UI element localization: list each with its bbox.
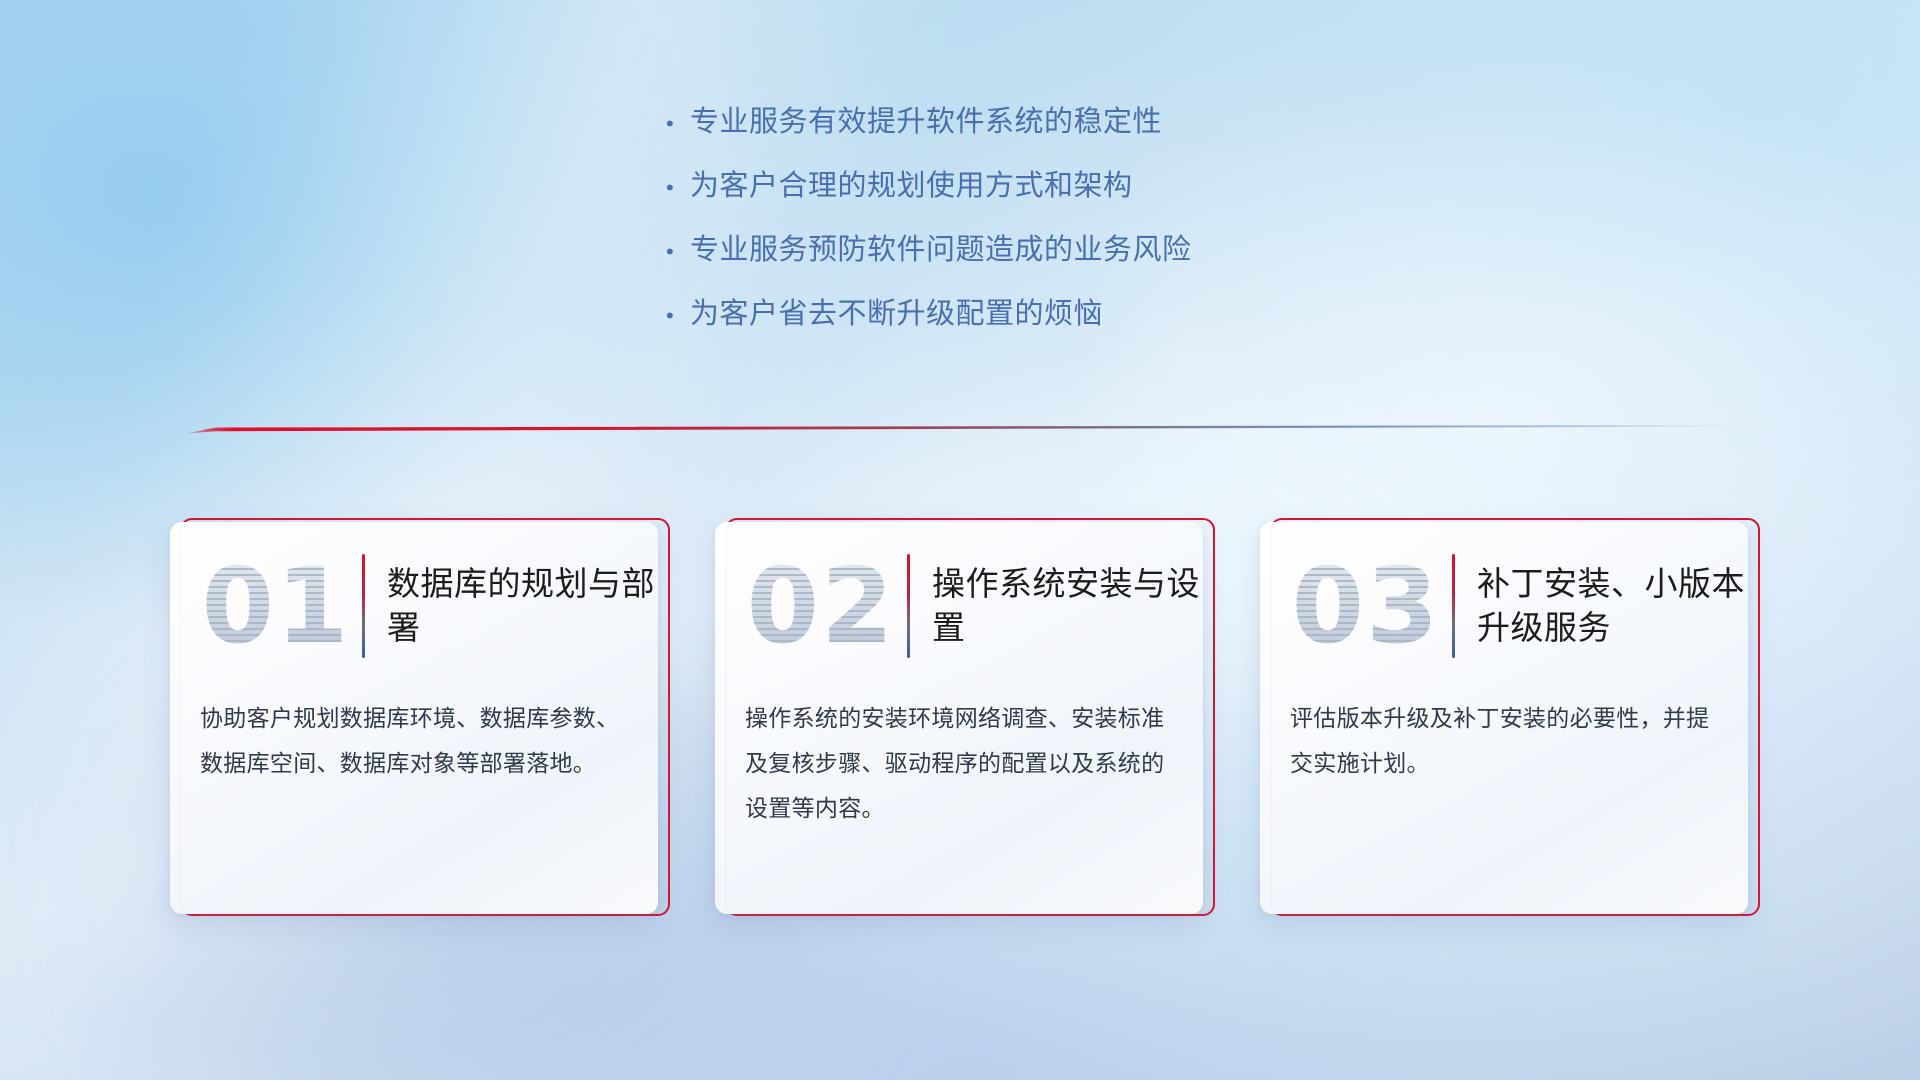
service-card-01[interactable]: 01 数据库的规划与部署 协助客户规划数据库环境、数据库参数、数据库空间、数据库… bbox=[170, 512, 660, 912]
card-header: 01 数据库的规划与部署 bbox=[170, 522, 658, 690]
list-item: • 专业服务有效提升软件系统的稳定性 bbox=[660, 98, 1480, 162]
card-description: 评估版本升级及补丁安装的必要性，并提交实施计划。 bbox=[1260, 690, 1748, 786]
bullet-text: 专业服务预防软件问题造成的业务风险 bbox=[690, 226, 1192, 268]
card-divider-rule bbox=[362, 554, 365, 658]
card-description: 操作系统的安装环境网络调查、安装标准及复核步骤、驱动程序的配置以及系统的设置等内… bbox=[715, 690, 1203, 831]
benefits-bullet-list: • 专业服务有效提升软件系统的稳定性 • 为客户合理的规划使用方式和架构 • 专… bbox=[660, 98, 1480, 354]
slide-canvas: • 专业服务有效提升软件系统的稳定性 • 为客户合理的规划使用方式和架构 • 专… bbox=[0, 0, 1920, 1080]
list-item: • 为客户合理的规划使用方式和架构 bbox=[660, 162, 1480, 226]
bullet-dot-icon: • bbox=[660, 177, 690, 199]
card-number-watermark: 02 bbox=[741, 546, 901, 666]
bullet-dot-icon: • bbox=[660, 113, 690, 135]
card-surface: 03 补丁安装、小版本升级服务 评估版本升级及补丁安装的必要性，并提交实施计划。 bbox=[1260, 522, 1748, 914]
bullet-text: 专业服务有效提升软件系统的稳定性 bbox=[690, 98, 1162, 140]
bullet-dot-icon: • bbox=[660, 305, 690, 327]
card-surface: 02 操作系统安装与设置 操作系统的安装环境网络调查、安装标准及复核步骤、驱动程… bbox=[715, 522, 1203, 914]
bullet-text: 为客户合理的规划使用方式和架构 bbox=[690, 162, 1133, 204]
card-description: 协助客户规划数据库环境、数据库参数、数据库空间、数据库对象等部署落地。 bbox=[170, 690, 658, 786]
card-header: 02 操作系统安装与设置 bbox=[715, 522, 1203, 690]
card-title: 数据库的规划与部署 bbox=[387, 562, 658, 650]
card-title: 补丁安装、小版本升级服务 bbox=[1477, 562, 1748, 650]
section-divider bbox=[186, 420, 1726, 438]
card-surface: 01 数据库的规划与部署 协助客户规划数据库环境、数据库参数、数据库空间、数据库… bbox=[170, 522, 658, 914]
service-card-03[interactable]: 03 补丁安装、小版本升级服务 评估版本升级及补丁安装的必要性，并提交实施计划。 bbox=[1260, 512, 1750, 912]
card-number-watermark: 01 bbox=[196, 546, 356, 666]
list-item: • 专业服务预防软件问题造成的业务风险 bbox=[660, 226, 1480, 290]
service-card-02[interactable]: 02 操作系统安装与设置 操作系统的安装环境网络调查、安装标准及复核步骤、驱动程… bbox=[715, 512, 1205, 912]
card-divider-rule bbox=[907, 554, 910, 658]
list-item: • 为客户省去不断升级配置的烦恼 bbox=[660, 290, 1480, 354]
card-number-watermark: 03 bbox=[1286, 546, 1446, 666]
card-title: 操作系统安装与设置 bbox=[932, 562, 1203, 650]
card-header: 03 补丁安装、小版本升级服务 bbox=[1260, 522, 1748, 690]
bullet-text: 为客户省去不断升级配置的烦恼 bbox=[690, 290, 1103, 332]
bullet-dot-icon: • bbox=[660, 241, 690, 263]
card-divider-rule bbox=[1452, 554, 1455, 658]
service-cards-row: 01 数据库的规划与部署 协助客户规划数据库环境、数据库参数、数据库空间、数据库… bbox=[0, 512, 1920, 912]
